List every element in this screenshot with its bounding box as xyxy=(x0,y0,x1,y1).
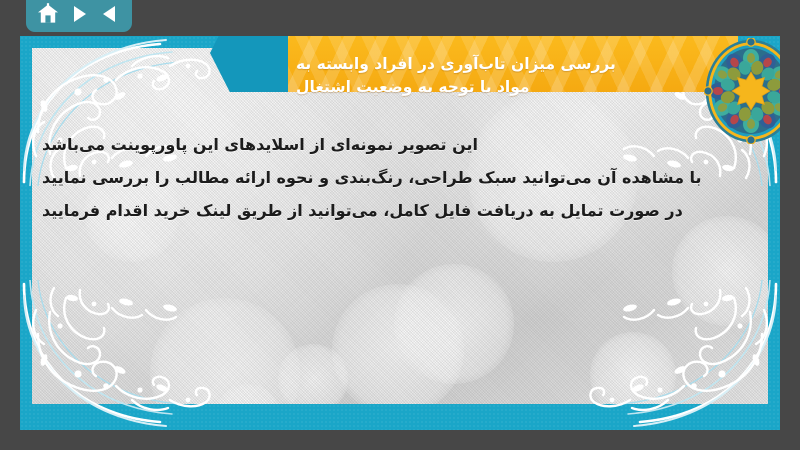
previous-slide-button[interactable] xyxy=(97,1,123,27)
triangle-left-icon xyxy=(99,3,121,25)
slide-body: این تصویر نمونه‌ای از اسلایدهای این پاور… xyxy=(42,134,758,222)
bokeh-circle xyxy=(332,284,464,404)
home-button[interactable] xyxy=(35,1,61,27)
bokeh-circle xyxy=(278,344,348,404)
bokeh-circle xyxy=(672,216,768,326)
next-slide-button[interactable] xyxy=(66,1,92,27)
slide-title: بررسی میزان تاب‌آوری در افراد وابسته به … xyxy=(296,40,660,110)
body-line-1: این تصویر نمونه‌ای از اسلایدهای این پاور… xyxy=(42,134,478,156)
title-line-1: بررسی میزان تاب‌آوری در افراد وابسته به xyxy=(296,53,616,75)
navigation-bar xyxy=(26,0,132,32)
slide-frame: بررسی میزان تاب‌آوری در افراد وابسته به … xyxy=(20,36,780,430)
home-icon xyxy=(36,2,60,26)
bokeh-circle xyxy=(150,298,300,404)
triangle-right-icon xyxy=(68,3,90,25)
bokeh-circle xyxy=(590,332,676,404)
bokeh-circle xyxy=(394,264,514,384)
title-line-2: مواد با توجه به وضعیت اشتغال xyxy=(296,76,530,98)
bokeh-circle xyxy=(216,384,280,404)
body-line-2: با مشاهده آن می‌توانید سبک طراحی، رنگ‌بن… xyxy=(42,167,702,189)
body-line-3: در صورت تمایل به دریافت فایل کامل، می‌تو… xyxy=(42,200,683,222)
slide-viewer: بررسی میزان تاب‌آوری در افراد وابسته به … xyxy=(0,0,800,450)
